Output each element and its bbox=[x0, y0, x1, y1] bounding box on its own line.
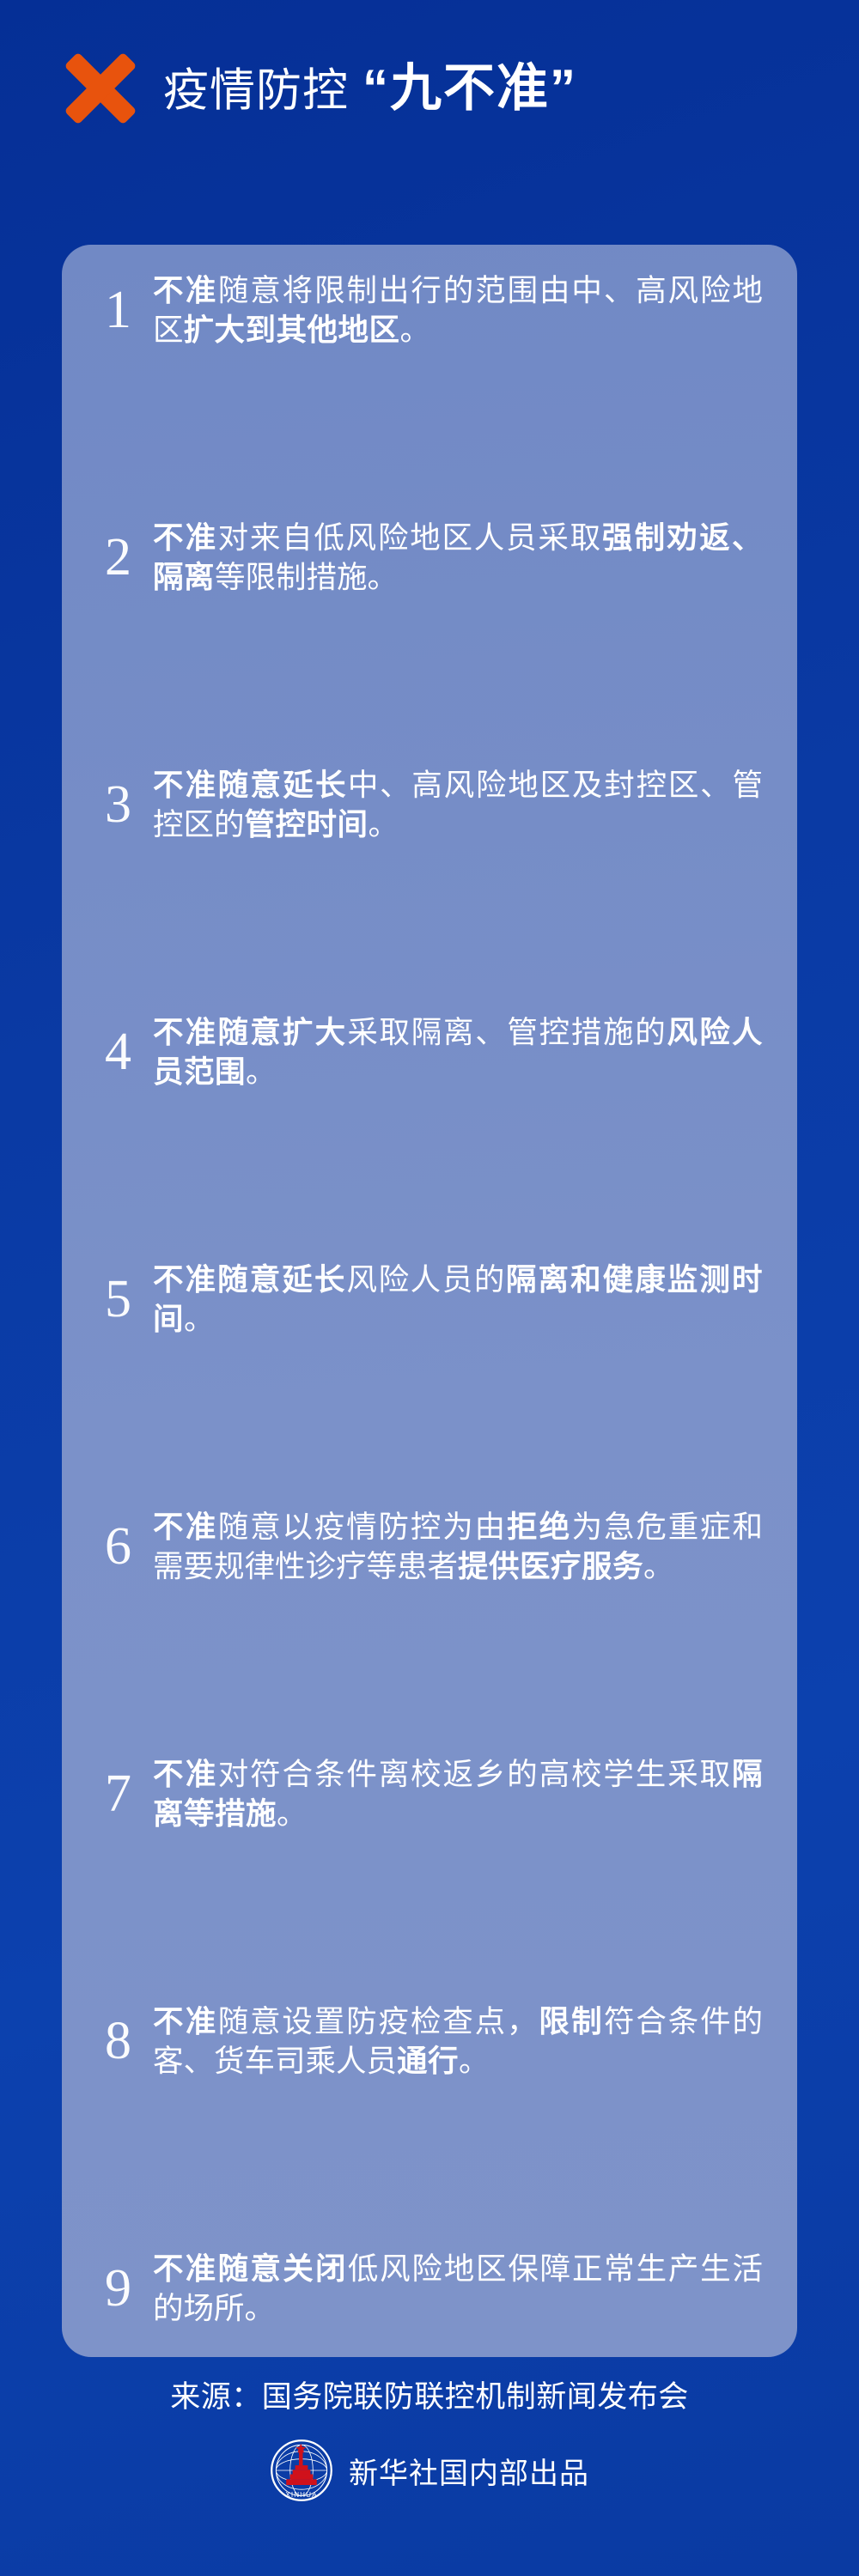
rule-number: 7 bbox=[82, 1767, 153, 1820]
page-header: 疫情防控 “九不准” bbox=[0, 0, 859, 112]
rule-item: 1不准随意将限制出行的范围由中、高风险地区扩大到其他地区。 bbox=[82, 267, 763, 353]
rule-text-normal: 。 bbox=[400, 313, 431, 347]
rule-text-normal: 风险人员的 bbox=[347, 1262, 506, 1297]
rule-text-emphasis: 不准随意扩大 bbox=[153, 1015, 347, 1049]
page-footer: 来源：国务院联防联控机制新闻发布会 XINHUA 新华社国内部出品 bbox=[0, 2357, 859, 2576]
rule-text-emphasis: 不准随意关闭 bbox=[153, 2251, 348, 2286]
rule-text-emphasis: 管控时间 bbox=[245, 807, 369, 841]
rule-text: 不准随意以疫情防控为由拒绝为急危重症和需要规律性诊疗等患者提供医疗服务。 bbox=[153, 1507, 763, 1586]
rule-number: 9 bbox=[82, 2262, 153, 2315]
rule-text-normal: 采取隔离、管控措施的 bbox=[347, 1015, 667, 1049]
rule-text-normal: 随意以疫情防控为由 bbox=[218, 1510, 507, 1544]
rule-text: 不准随意关闭低风险地区保障正常生产生活的场所。 bbox=[153, 2249, 763, 2328]
rule-text: 不准随意延长中、高风险地区及封控区、管控区的管控时间。 bbox=[153, 765, 763, 844]
rule-text-normal: 。 bbox=[246, 1054, 277, 1089]
rule-number: 4 bbox=[82, 1025, 153, 1078]
rule-item: 3不准随意延长中、高风险地区及封控区、管控区的管控时间。 bbox=[82, 762, 763, 848]
page-title-main: 疫情防控 bbox=[163, 68, 349, 113]
rule-text-emphasis: 不准 bbox=[153, 520, 218, 555]
rule-text-normal: 。 bbox=[277, 1796, 308, 1831]
rule-item: 9不准随意关闭低风险地区保障正常生产生活的场所。 bbox=[82, 2245, 763, 2331]
rule-text-normal: 。 bbox=[643, 1549, 674, 1583]
rule-text-emphasis: 通行 bbox=[397, 2044, 459, 2078]
rule-text-normal: 对来自低风险地区人员采取 bbox=[218, 520, 602, 555]
svg-text:XINHUA: XINHUA bbox=[285, 2491, 317, 2499]
rule-item: 2不准对来自低风险地区人员采取强制劝返、隔离等限制措施。 bbox=[82, 514, 763, 600]
rule-item: 8不准随意设置防疫检查点，限制符合条件的客、货车司乘人员通行。 bbox=[82, 1998, 763, 2084]
rule-text-normal: 。 bbox=[184, 1302, 215, 1336]
rule-text-emphasis: 限制 bbox=[539, 2004, 604, 2038]
credit-block: XINHUA 新华社国内部出品 bbox=[270, 2439, 589, 2502]
rule-text-normal: 。 bbox=[369, 807, 399, 841]
rule-text-emphasis: 不准 bbox=[153, 1757, 218, 1791]
rule-text-normal: 等限制措施。 bbox=[215, 560, 398, 594]
rule-number: 1 bbox=[82, 283, 153, 337]
rule-text-emphasis: 拒绝 bbox=[507, 1510, 572, 1544]
rules-card: 1不准随意将限制出行的范围由中、高风险地区扩大到其他地区。2不准对来自低风险地区… bbox=[62, 245, 797, 2357]
rule-number: 8 bbox=[82, 2014, 153, 2068]
rule-text-emphasis: 提供医疗服务 bbox=[458, 1549, 643, 1583]
rule-text: 不准随意设置防疫检查点，限制符合条件的客、货车司乘人员通行。 bbox=[153, 2002, 763, 2081]
rule-text-normal: 对符合条件离校返乡的高校学生采取 bbox=[218, 1757, 732, 1791]
xinhua-logo: XINHUA bbox=[270, 2439, 333, 2502]
rule-number: 3 bbox=[82, 778, 153, 831]
rule-text: 不准随意延长风险人员的隔离和健康监测时间。 bbox=[153, 1260, 763, 1339]
rule-item: 5不准随意延长风险人员的隔离和健康监测时间。 bbox=[82, 1256, 763, 1342]
rule-text: 不准对来自低风险地区人员采取强制劝返、隔离等限制措施。 bbox=[153, 518, 763, 597]
page-title: 疫情防控 “九不准” bbox=[163, 63, 577, 114]
rule-number: 5 bbox=[82, 1273, 153, 1326]
rule-text: 不准随意扩大采取隔离、管控措施的风险人员范围。 bbox=[153, 1012, 763, 1091]
rule-item: 7不准对符合条件离校返乡的高校学生采取隔离等措施。 bbox=[82, 1751, 763, 1837]
rule-text-normal: 随意设置防疫检查点， bbox=[218, 2004, 539, 2038]
rule-text: 不准随意将限制出行的范围由中、高风险地区扩大到其他地区。 bbox=[153, 270, 763, 349]
rule-text-emphasis: 不准 bbox=[153, 2004, 218, 2038]
rule-text-normal: 。 bbox=[459, 2044, 490, 2078]
rule-text-emphasis: 不准 bbox=[153, 1510, 218, 1544]
rule-text-emphasis: 不准随意延长 bbox=[153, 768, 348, 802]
source-line: 来源：国务院联防联控机制新闻发布会 bbox=[170, 2372, 689, 2416]
credit-text: 新华社国内部出品 bbox=[349, 2450, 589, 2492]
rule-number: 2 bbox=[82, 531, 153, 584]
rule-text-emphasis: 扩大到其他地区 bbox=[184, 313, 400, 347]
orange-x-icon bbox=[64, 52, 137, 125]
rule-text: 不准对符合条件离校返乡的高校学生采取隔离等措施。 bbox=[153, 1754, 763, 1833]
rule-text-emphasis: 不准随意延长 bbox=[153, 1262, 347, 1297]
rule-item: 6不准随意以疫情防控为由拒绝为急危重症和需要规律性诊疗等患者提供医疗服务。 bbox=[82, 1504, 763, 1589]
rule-item: 4不准随意扩大采取隔离、管控措施的风险人员范围。 bbox=[82, 1009, 763, 1095]
rule-number: 6 bbox=[82, 1520, 153, 1573]
rule-text-emphasis: 不准 bbox=[153, 273, 218, 307]
page-title-quoted: “九不准” bbox=[362, 63, 577, 114]
